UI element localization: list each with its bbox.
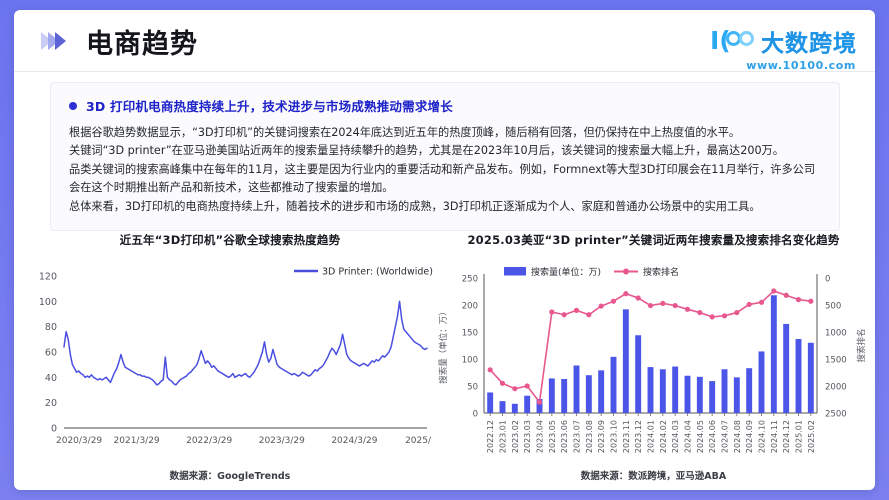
- legend-marker-line: [623, 269, 629, 275]
- x-tick-label: 2023.11: [622, 420, 631, 453]
- x-tick-label: 2023.12: [634, 420, 643, 453]
- x-tick-label: 2023.10: [610, 420, 619, 453]
- brand-logo[interactable]: I( 大数跨境 www.10100.com: [710, 24, 857, 72]
- y-tick-left: 50: [467, 383, 478, 393]
- bar: [759, 351, 765, 413]
- rank-point: [549, 309, 554, 314]
- x-tick-label: 2024.07: [721, 420, 730, 453]
- rank-point: [722, 313, 727, 318]
- slide-page: 电商趋势 I( 大数跨境 www.10100.com 3D 打印机电商热度持续上…: [0, 0, 889, 500]
- y-axis-title-left: 搜索量（单位：万）: [438, 307, 449, 384]
- x-tick-label: 2024.04: [684, 420, 693, 453]
- rank-point: [796, 297, 801, 302]
- chart-title-right: 2025.03美亚“3D printer”关键词近两年搜索量及搜索排名变化趋势: [432, 232, 875, 248]
- y-tick-right: 0: [825, 275, 830, 285]
- x-tick-label: 2023.08: [585, 420, 594, 453]
- summary-paragraph-2: 关键词“3D printer”在亚马逊美国站近两年的搜索量呈持续攀升的趋势，尤其…: [69, 142, 821, 159]
- bullet-icon: [69, 102, 77, 110]
- bar: [796, 339, 802, 413]
- x-tick-label: 2024.11: [770, 420, 779, 453]
- bar: [635, 335, 641, 413]
- bar: [598, 370, 604, 413]
- rank-point: [512, 386, 517, 391]
- bar: [500, 401, 506, 413]
- x-tick-label: 2024.06: [708, 420, 717, 453]
- y-tick-left: 150: [462, 329, 478, 339]
- x-tick-label: 2023.02: [511, 420, 520, 453]
- rank-point: [697, 310, 702, 315]
- y-tick-left: 250: [462, 275, 478, 285]
- chart-amazon-aba: 2025.03美亚“3D printer”关键词近两年搜索量及搜索排名变化趋势 …: [432, 226, 875, 490]
- x-tick-label: 2024.02: [659, 420, 668, 453]
- chart-title-left: 近五年“3D打印机”谷歌全球搜索热度趋势: [22, 232, 438, 248]
- rank-point: [525, 383, 530, 388]
- x-tick-label: 2023.07: [573, 420, 582, 453]
- rank-point: [611, 299, 616, 304]
- line-chart-svg: 0204060801001202020/3/292021/3/292022/3/…: [22, 248, 438, 466]
- rank-point: [586, 312, 591, 317]
- x-tick-label: 2024.01: [647, 420, 656, 453]
- bar: [561, 379, 567, 413]
- rank-point: [562, 312, 567, 317]
- bar: [709, 381, 715, 413]
- x-tick-label: 2023.09: [597, 420, 606, 453]
- rank-point: [636, 295, 641, 300]
- chevrons-icon: [41, 32, 62, 50]
- x-tick-label: 2023.04: [536, 420, 545, 453]
- summary-paragraph-1: 根据谷歌趋势数据显示，“3D打印机”的关键词搜索在2024年底达到近五年的热度顶…: [69, 124, 821, 141]
- y-tick-right: 2000: [825, 383, 847, 393]
- rank-point: [759, 300, 764, 305]
- x-tick-label: 2023.05: [548, 420, 557, 453]
- rank-point: [771, 288, 776, 293]
- y-tick-left: 40: [45, 373, 57, 384]
- y-tick-left: 0: [51, 424, 57, 435]
- bar: [611, 357, 617, 413]
- bar: [512, 404, 518, 413]
- bar: [623, 309, 629, 413]
- x-tick-left: 2020/3/29: [56, 436, 102, 446]
- y-tick-right: 1000: [825, 329, 847, 339]
- page-title: 电商趋势: [86, 22, 198, 61]
- x-tick-left: 2023/3/29: [259, 436, 305, 446]
- bar: [672, 367, 678, 413]
- rank-point: [488, 367, 493, 372]
- rank-point: [599, 303, 604, 308]
- bar: [487, 392, 493, 413]
- y-tick-left: 100: [39, 297, 57, 308]
- bar: [648, 367, 654, 413]
- bar: [808, 343, 814, 413]
- x-tick-label: 2024.05: [696, 420, 705, 453]
- logo-mark-icon: I(: [710, 28, 756, 54]
- y-tick-right: 1500: [825, 356, 847, 366]
- x-tick-label: 2024.08: [733, 420, 742, 453]
- rank-point: [747, 302, 752, 307]
- summary-paragraph-3: 品类关键词的搜索高峰集中在每年的11月，这主要是因为行业内的重要活动和新产品发布…: [69, 161, 821, 178]
- bar: [524, 396, 530, 413]
- y-tick-left: 0: [473, 410, 478, 420]
- x-tick-left: 2025/: [405, 436, 432, 446]
- content-card: 电商趋势 I( 大数跨境 www.10100.com 3D 打印机电商热度持续上…: [14, 10, 875, 490]
- x-tick-left: 2021/3/29: [114, 436, 160, 446]
- rank-point: [574, 308, 579, 313]
- bar: [746, 368, 752, 413]
- y-tick-left: 120: [39, 272, 57, 283]
- y-tick-left: 80: [45, 322, 57, 333]
- rank-point: [685, 307, 690, 312]
- x-tick-label: 2025.01: [795, 420, 804, 453]
- x-tick-left: 2022/3/29: [186, 436, 232, 446]
- trend-line: [64, 301, 427, 385]
- legend-label: 3D Printer: (Worldwide): [322, 267, 433, 278]
- logo-brand-text: 大数跨境: [761, 24, 857, 58]
- x-tick-label: 2024.03: [671, 420, 680, 453]
- legend-label-line: 搜索排名: [643, 266, 679, 278]
- rank-point: [623, 291, 628, 296]
- rank-point: [784, 293, 789, 298]
- x-tick-label: 2025.02: [807, 420, 816, 453]
- rank-point: [808, 299, 813, 304]
- summary-title: 3D 打印机电商热度持续上升，技术进步与市场成熟推动需求增长: [86, 96, 453, 115]
- rank-point: [537, 400, 542, 405]
- chart-google-trends: 近五年“3D打印机”谷歌全球搜索热度趋势 0204060801001202020…: [22, 226, 438, 490]
- bar: [697, 377, 703, 413]
- summary-panel: 3D 打印机电商热度持续上升，技术进步与市场成熟推动需求增长 根据谷歌趋势数据显…: [50, 82, 840, 231]
- y-tick-right: 500: [825, 302, 841, 312]
- rank-point: [660, 301, 665, 306]
- bar: [586, 375, 592, 413]
- bar: [771, 295, 777, 413]
- x-tick-label: 2023.01: [499, 420, 508, 453]
- charts-row: 近五年“3D打印机”谷歌全球搜索热度趋势 0204060801001202020…: [14, 226, 875, 490]
- rank-point: [648, 303, 653, 308]
- combo-chart-svg: 05010015020025005001000150020002500搜索量（单…: [432, 248, 875, 466]
- rank-point: [673, 303, 678, 308]
- bar: [722, 369, 728, 413]
- y-tick-left: 20: [45, 398, 57, 409]
- bar: [574, 365, 580, 413]
- y-tick-left: 100: [462, 356, 478, 366]
- y-tick-right: 2500: [825, 410, 847, 420]
- header-divider: [14, 71, 875, 72]
- bar: [660, 369, 666, 413]
- x-tick-label: 2022.12: [486, 420, 495, 453]
- summary-paragraph-4: 会在这个时期推出新产品和新技术，这些都推动了搜索量的增加。: [69, 179, 821, 196]
- x-tick-label: 2024.10: [758, 420, 767, 453]
- bar: [783, 324, 789, 413]
- chart-source-left: 数据来源：GoogleTrends: [22, 468, 438, 482]
- y-tick-left: 60: [45, 348, 57, 359]
- bar: [734, 377, 740, 413]
- x-tick-left: 2024/3/29: [331, 436, 377, 446]
- bar: [685, 376, 691, 413]
- chart-source-right: 数据来源：数派跨境，亚马逊ABA: [432, 468, 875, 482]
- page-header: 电商趋势 I( 大数跨境 www.10100.com: [14, 10, 875, 72]
- summary-heading: 3D 打印机电商热度持续上升，技术进步与市场成熟推动需求增长: [69, 96, 821, 115]
- rank-point: [734, 310, 739, 315]
- rank-point: [500, 381, 505, 386]
- y-axis-title-right: 搜索排名: [856, 328, 867, 362]
- x-tick-label: 2024.12: [782, 420, 791, 453]
- bar: [549, 378, 555, 413]
- x-tick-label: 2024.09: [745, 420, 754, 453]
- summary-paragraph-5: 总体来看，3D打印机的电商热度持续上升，随着技术的进步和市场的成熟，3D打印机正…: [69, 198, 821, 215]
- legend-label-bar: 搜索量(单位：万): [531, 266, 601, 278]
- legend-swatch-bar: [504, 267, 526, 276]
- x-tick-label: 2023.06: [560, 420, 569, 453]
- y-tick-left: 200: [462, 302, 478, 312]
- x-tick-label: 2023.03: [523, 420, 532, 453]
- rank-point: [710, 314, 715, 319]
